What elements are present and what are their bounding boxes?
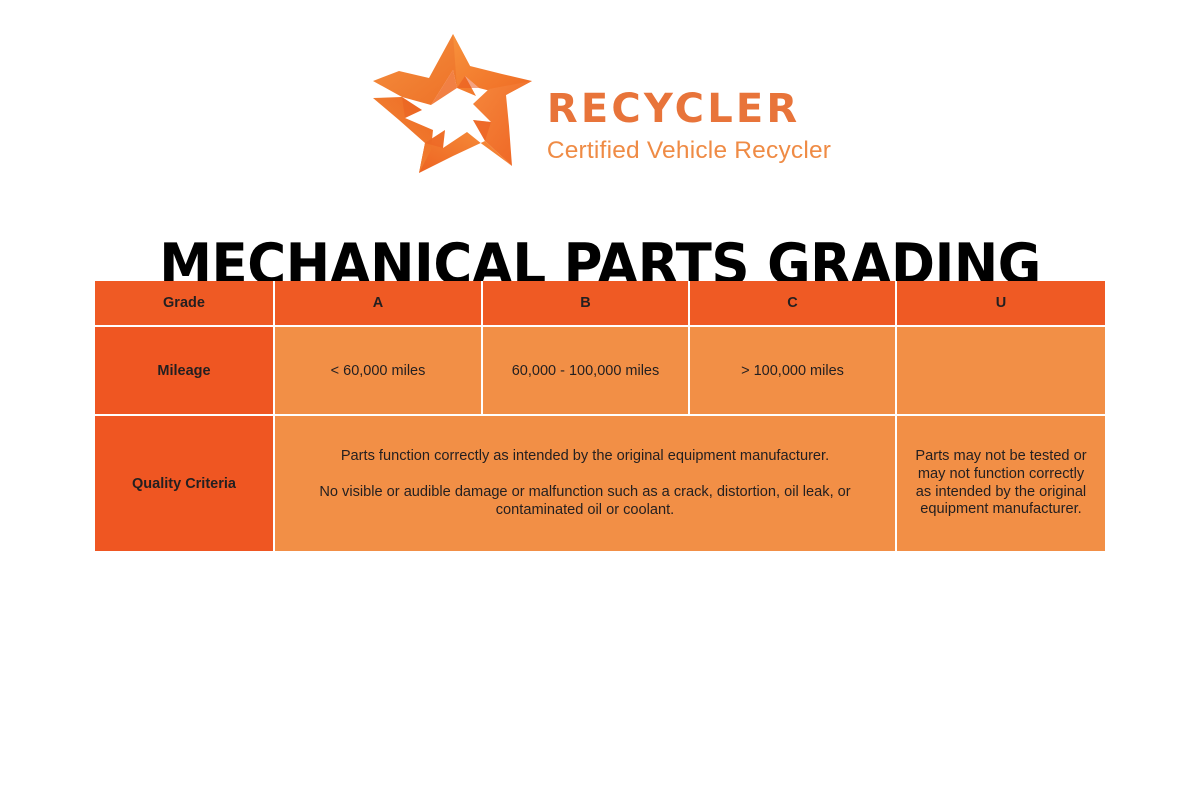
column-header-u: U [897,281,1105,327]
brand-name: RECYCLER [547,89,831,129]
quality-criteria-abc-wrap: Parts function correctly as intended by … [275,447,895,519]
brand-logo-inner: RECYCLER Certified Vehicle Recycler [369,26,831,184]
mileage-grade-a: < 60,000 miles [275,327,483,416]
table-row-quality-criteria: Quality Criteria Parts function correctl… [95,416,1105,551]
quality-criteria-line-2: No visible or audible damage or malfunct… [301,483,869,520]
quality-criteria-line-1: Parts function correctly as intended by … [301,447,869,465]
brand-tagline: Certified Vehicle Recycler [547,139,831,164]
table-header-row: Grade A B C U [95,281,1105,327]
column-header-c: C [690,281,897,327]
quality-criteria-abc: Parts function correctly as intended by … [275,416,897,551]
quality-criteria-u: Parts may not be tested or may not funct… [897,416,1105,551]
mileage-grade-u [897,327,1105,416]
quality-criteria-u-text: Parts may not be tested or may not funct… [897,448,1105,519]
row-label-quality-criteria: Quality Criteria [95,416,275,551]
mileage-grade-c: > 100,000 miles [690,327,897,416]
column-header-b: B [483,281,690,327]
brand-wordmark: RECYCLER Certified Vehicle Recycler [543,45,831,164]
column-header-a: A [275,281,483,327]
recycling-star-icon [369,26,537,184]
brand-logo: RECYCLER Certified Vehicle Recycler [0,22,1200,187]
table-row-mileage: Mileage < 60,000 miles 60,000 - 100,000 … [95,327,1105,416]
mechanical-parts-grading-table: Grade A B C U Mileage < 60,000 miles 60,… [95,281,1105,551]
column-header-grade: Grade [95,281,275,327]
mileage-grade-b: 60,000 - 100,000 miles [483,327,690,416]
row-label-mileage: Mileage [95,327,275,416]
